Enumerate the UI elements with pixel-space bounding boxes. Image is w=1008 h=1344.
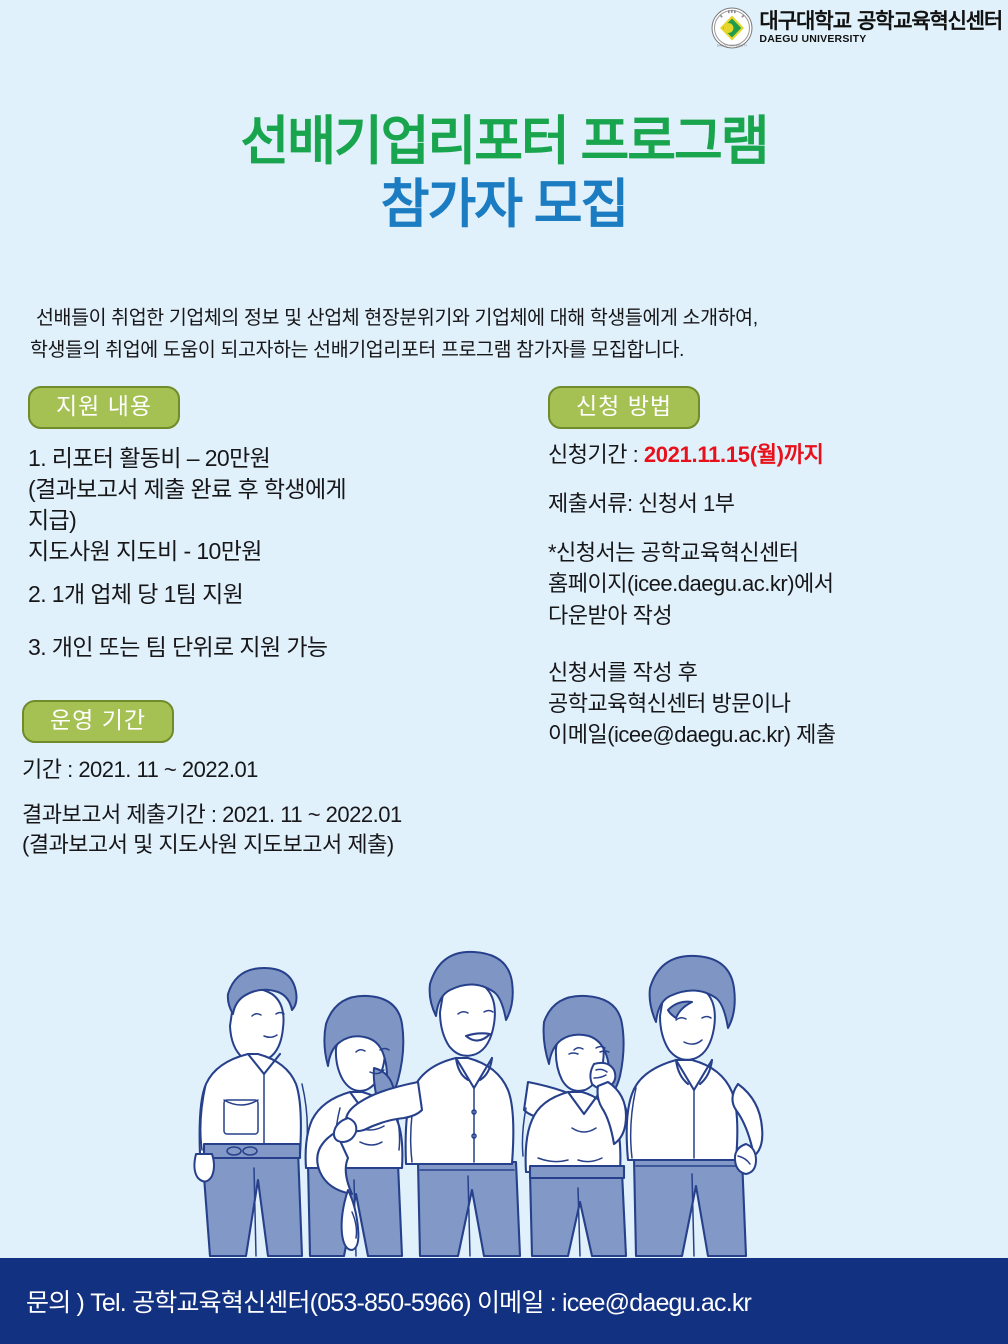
- apply-note-line-3: 다운받아 작성: [548, 600, 988, 631]
- title-line-2: 참가자 모집: [0, 175, 1008, 234]
- logo-center-name: 공학교육혁신센터: [857, 11, 1002, 32]
- title-line-1: 선배기업리포터 프로그램: [0, 112, 1008, 171]
- support-line-1: 1. 리포터 활동비 – 20만원: [28, 443, 528, 474]
- poster-root: DAEGU UNIVERSITY 대구대학교 공학교육혁신센터 DAEGU UN…: [0, 0, 1008, 1344]
- five-students-group-illustration: .ln2 { fill:none; stroke:#27408b; stroke…: [190, 918, 790, 1258]
- apply-deadline-value: 2021.11.15(월)까지: [644, 442, 824, 467]
- spacer: [22, 784, 582, 800]
- intro-paragraph: 선배들이 취업한 기업체의 정보 및 산업체 현장분위기와 기업체에 대해 학생…: [30, 303, 982, 366]
- student-figure-1: [194, 968, 307, 1256]
- svg-text:DAEGU UNIVERSITY: DAEGU UNIVERSITY: [717, 43, 747, 47]
- poster-title: 선배기업리포터 프로그램 참가자 모집: [0, 112, 1008, 235]
- apply-deadline-label: 신청기간 :: [548, 442, 644, 467]
- apply-note-line-1: *신청서는 공학교육혁신센터: [548, 537, 988, 568]
- period-line-1: 기간 : 2021. 11 ~ 2022.01: [22, 755, 582, 784]
- apply-body: 신청기간 : 2021.11.15(월)까지 제출서류: 신청서 1부 *신청서…: [548, 439, 988, 751]
- period-line-3: (결과보고서 및 지도사원 지도보고서 제출): [22, 830, 582, 859]
- support-line-3: 지급): [28, 505, 528, 536]
- spacer: [548, 631, 988, 657]
- support-section: 지원 내용 1. 리포터 활동비 – 20만원 (결과보고서 제출 완료 후 학…: [28, 386, 528, 663]
- logo-university-name-kr: 대구대학교: [759, 11, 851, 32]
- support-line-5: 2. 1개 업체 당 1팀 지원: [28, 579, 528, 610]
- support-line-2: (결과보고서 제출 완료 후 학생에게: [28, 474, 528, 505]
- spacer: [28, 610, 528, 632]
- university-logo: DAEGU UNIVERSITY 대구대학교 공학교육혁신센터 DAEGU UN…: [711, 6, 1002, 50]
- apply-deadline-row: 신청기간 : 2021.11.15(월)까지: [548, 439, 988, 470]
- spacer: [548, 519, 988, 537]
- period-section: 운영 기간 기간 : 2021. 11 ~ 2022.01 결과보고서 제출기간…: [22, 700, 582, 859]
- footer-contact-bar: 문의 ) Tel. 공학교육혁신센터(053-850-5966) 이메일 : i…: [0, 1258, 1008, 1344]
- student-figure-4: [522, 996, 629, 1256]
- period-section-pill: 운영 기간: [22, 700, 174, 743]
- intro-line-2: 학생들의 취업에 도움이 되고자하는 선배기업리포터 프로그램 참가자를 모집합…: [30, 335, 982, 367]
- apply-note-line-2: 홈페이지(icee.daegu.ac.kr)에서: [548, 568, 988, 599]
- apply-submit-line-2: 공학교육혁신센터 방문이나: [548, 688, 988, 719]
- support-list: 1. 리포터 활동비 – 20만원 (결과보고서 제출 완료 후 학생에게 지급…: [28, 443, 528, 663]
- support-line-4: 지도사원 지도비 - 10만원: [28, 536, 528, 567]
- daegu-university-seal-icon: DAEGU UNIVERSITY: [711, 7, 753, 49]
- apply-section: 신청 방법 신청기간 : 2021.11.15(월)까지 제출서류: 신청서 1…: [548, 386, 988, 751]
- apply-section-pill: 신청 방법: [548, 386, 700, 429]
- period-body: 기간 : 2021. 11 ~ 2022.01 결과보고서 제출기간 : 202…: [22, 755, 582, 859]
- spacer: [548, 470, 988, 488]
- intro-line-1: 선배들이 취업한 기업체의 정보 및 산업체 현장분위기와 기업체에 대해 학생…: [30, 303, 982, 335]
- spacer: [28, 567, 528, 579]
- support-line-6: 3. 개인 또는 팀 단위로 지원 가능: [28, 632, 528, 663]
- logo-university-name-en: DAEGU UNIVERSITY: [759, 34, 1002, 45]
- apply-documents: 제출서류: 신청서 1부: [548, 488, 988, 519]
- apply-submit-line-3: 이메일(icee@daegu.ac.kr) 제출: [548, 719, 988, 750]
- footer-contact-text: 문의 ) Tel. 공학교육혁신센터(053-850-5966) 이메일 : i…: [0, 1283, 751, 1319]
- apply-submit-line-1: 신청서를 작성 후: [548, 657, 988, 688]
- period-line-2: 결과보고서 제출기간 : 2021. 11 ~ 2022.01: [22, 800, 582, 829]
- support-section-pill: 지원 내용: [28, 386, 180, 429]
- student-figure-5: [627, 956, 763, 1256]
